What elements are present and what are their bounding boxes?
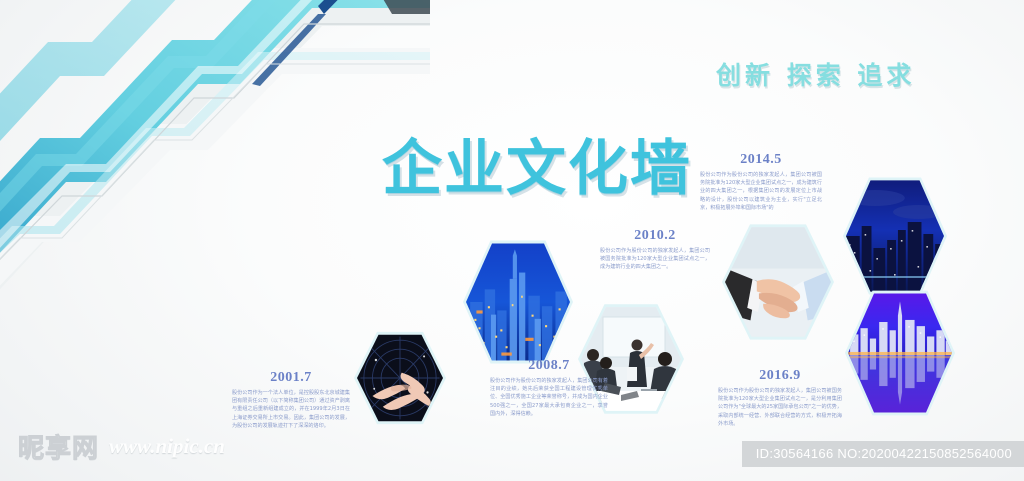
- milestone-block-2010: 2010.2 股份公司作为股份公司的独家发起人，集团公司被国务院批准为120家大…: [600, 228, 710, 272]
- image-id-bar: ID:30564166 NO:20200422150852564000: [742, 441, 1024, 467]
- photo-frame: [466, 241, 570, 363]
- photo-frame: [357, 333, 443, 423]
- milestone-date: 2010.2: [600, 228, 710, 244]
- nipic-logo: 昵享网: [18, 428, 99, 465]
- milestone-block-2008: 2008.7 股份公司作为股份公司的独家发起人，集团公司有着注目的业绩，她先后荣…: [490, 358, 608, 418]
- milestone-text: 股份公司作为股份公司的独家发起人，集团公司有着注目的业绩，她先后荣获全国工程建设…: [490, 377, 608, 418]
- city-reflection-image: [848, 291, 952, 415]
- poster-canvas: 企业文化墙 创新 探索 追求: [0, 0, 1024, 481]
- milestone-block-2016: 2016.9 股份公司作为股份公司的独家发起人，集团公司被国务院批准为120家大…: [718, 368, 842, 428]
- milestone-block-2001: 2001.7 股份公司作为一个法人单位，是控股股东北京城建集团有限责任公司（以下…: [232, 370, 350, 430]
- page-title: 企业文化墙: [382, 120, 692, 207]
- handshake-image: [725, 225, 831, 339]
- teamwork-hands-photo: [354, 330, 446, 426]
- photo-frame: [725, 225, 831, 339]
- milestone-text: 股份公司作为股份公司的独家发起人，集团公司被国务院批准为120家大型企业集团试点…: [600, 247, 710, 272]
- night-city-skyline-photo: [463, 238, 573, 366]
- milestone-date: 2016.9: [718, 368, 842, 384]
- night-city-image: [466, 241, 570, 363]
- dark-skyline-image: [846, 178, 944, 294]
- teamwork-hands-image: [357, 333, 443, 423]
- city-reflection-photo: [845, 288, 955, 418]
- milestone-date: 2008.7: [490, 358, 608, 374]
- milestone-date: 2001.7: [232, 370, 350, 386]
- milestone-block-2014: 2014.5 股份公司作为股份公司的独家发起人，集团公司被国务院批准为120家大…: [700, 152, 822, 212]
- photo-frame: [848, 291, 952, 415]
- milestone-text: 股份公司作为股份公司的独家发起人，集团公司被国务院批准为120家大型企业集团试点…: [718, 387, 842, 428]
- milestone-text: 股份公司作为股份公司的独家发起人，集团公司被国务院批准为120家大型企业集团试点…: [700, 171, 822, 212]
- slogan-text: 创新 探索 追求: [716, 56, 915, 92]
- watermark-url: www.nipic.cn: [109, 434, 225, 459]
- photo-frame: [846, 178, 944, 294]
- site-watermark: 昵享网 www.nipic.cn: [18, 428, 225, 465]
- milestone-text: 股份公司作为一个法人单位，是控股股东北京城建集团有限责任公司（以下简称集团公司）…: [232, 389, 350, 430]
- handshake-photo: [722, 222, 834, 342]
- dark-blue-skyline-photo: [843, 175, 947, 297]
- diagonal-ribbon-graphic: [0, 0, 430, 300]
- milestone-date: 2014.5: [700, 152, 822, 168]
